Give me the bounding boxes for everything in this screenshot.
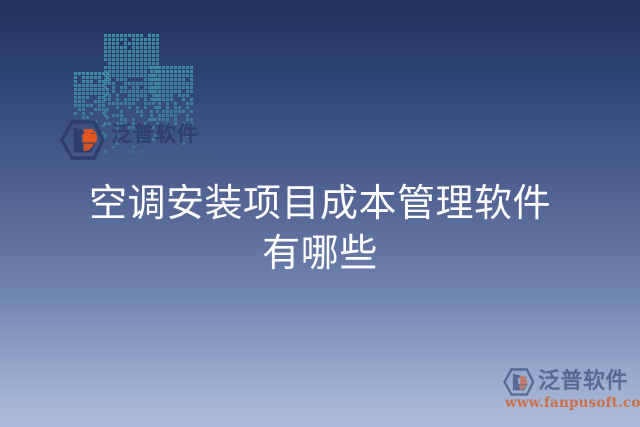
fanpu-hexagon-logo-icon: [60, 120, 104, 160]
page-title-line-2: 有哪些: [0, 228, 640, 278]
watermark-brand-name: 泛普软件: [538, 371, 628, 393]
fanpu-hexagon-logo-watermark-icon: [503, 368, 534, 396]
page-title-line-1: 空调安装项目成本管理软件: [0, 178, 640, 228]
watermark-url: www.fanpusoft.com: [505, 397, 640, 411]
page-title: 空调安装项目成本管理软件 有哪些: [0, 178, 640, 278]
brand-name-cn: 泛普软件: [111, 123, 215, 145]
pixel-skyline-decoration: [74, 28, 184, 124]
brand-wordmark: 泛普软件 FANPU SOFTWARE: [111, 123, 215, 157]
brand-name-en: FANPU SOFTWARE: [111, 148, 215, 157]
poster-canvas: 泛普软件 FANPU SOFTWARE 空调安装项目成本管理软件 有哪些 泛普软…: [0, 0, 640, 427]
watermark-logo-row: 泛普软件: [503, 368, 640, 396]
brand-logo-lockup: 泛普软件 FANPU SOFTWARE: [60, 120, 215, 160]
site-watermark: 泛普软件 www.fanpusoft.com: [503, 368, 640, 420]
